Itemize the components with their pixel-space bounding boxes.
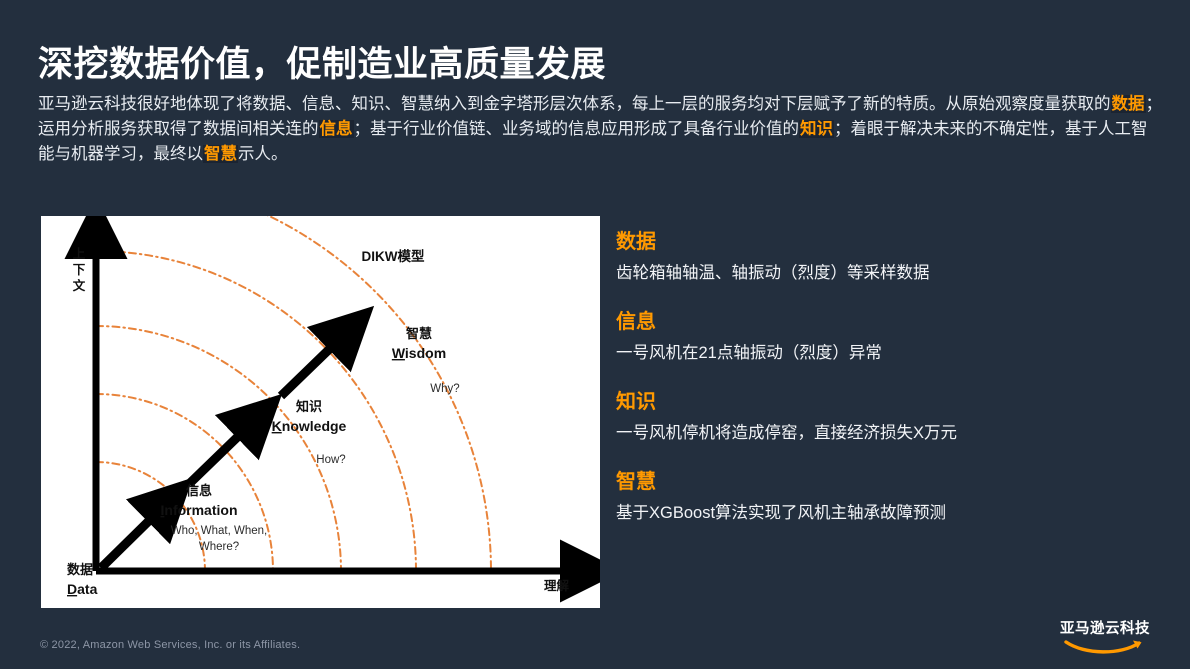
aws-china-logo-text: 亚马逊云科技	[1044, 621, 1166, 638]
subtitle-seg-3: ；基于行业价值链、业务域的信息应用形成了具备行业价值的	[354, 120, 800, 138]
level-data: 数据 Data	[67, 562, 98, 597]
info-column: 数据 齿轮箱轴轴温、轴振动（烈度）等采样数据 信息 一号风机在21点轴振动（烈度…	[616, 228, 1156, 548]
info-heading-data: 数据	[616, 228, 1156, 256]
y-axis-label-char-2: 下	[73, 263, 86, 277]
subtitle-highlight-knowledge: 知识	[799, 120, 834, 138]
level-wisdom-label-en: Wisdom	[392, 345, 446, 361]
level-knowledge-label-en: Knowledge	[272, 418, 347, 434]
info-block-knowledge: 知识 一号风机停机将造成停窑，直接经济损失X万元	[616, 388, 1156, 445]
level-wisdom-question: Why?	[430, 383, 459, 395]
level-information-label-en: Information	[161, 502, 238, 518]
level-wisdom-initial: W	[392, 345, 406, 361]
info-block-wisdom: 智慧 基于XGBoost算法实现了风机主轴承故障预测	[616, 468, 1156, 525]
level-information: 信息 Information Who, What, When, Where?	[161, 483, 268, 553]
level-wisdom-rest: isdom	[405, 345, 446, 361]
amazon-smile-icon	[1063, 639, 1147, 655]
dikw-diagram-panel: 上 下 文 理解 DIKW模型 数据 Data 信息 Information	[41, 216, 600, 608]
y-axis-label: 上 下 文	[73, 246, 86, 293]
footer-copyright: © 2022, Amazon Web Services, Inc. or its…	[40, 639, 300, 651]
subtitle-highlight-wisdom: 智慧	[203, 145, 238, 163]
info-heading-information: 信息	[616, 308, 1156, 336]
level-wisdom-label-cn: 智慧	[406, 326, 432, 341]
subtitle-seg-5: 示人。	[238, 145, 288, 163]
level-knowledge-rest: nowledge	[282, 418, 347, 434]
level-knowledge-label-cn: 知识	[296, 399, 322, 414]
level-information-label-cn: 信息	[186, 483, 212, 498]
level-information-rest: nformation	[164, 502, 237, 518]
level-knowledge-question: How?	[316, 454, 345, 466]
level-knowledge-initial: K	[272, 418, 282, 434]
level-data-initial: D	[67, 581, 77, 597]
info-block-information: 信息 一号风机在21点轴振动（烈度）异常	[616, 308, 1156, 365]
info-block-data: 数据 齿轮箱轴轴温、轴振动（烈度）等采样数据	[616, 228, 1156, 285]
info-body-information: 一号风机在21点轴振动（烈度）异常	[616, 341, 1156, 365]
subtitle-highlight-information: 信息	[319, 120, 354, 138]
level-data-label-en: Data	[67, 581, 98, 597]
slide-root: 深挖数据价值，促制造业高质量发展 亚马逊云科技很好地体现了将数据、信息、知识、智…	[0, 0, 1190, 669]
level-knowledge: 知识 Knowledge How?	[272, 399, 347, 466]
y-axis-label-char-1: 上	[73, 246, 86, 261]
arrow-knowledge-to-wisdom	[281, 334, 345, 396]
arrow-data-to-information	[101, 506, 164, 568]
info-heading-knowledge: 知识	[616, 388, 1156, 416]
diagram-title: DIKW模型	[362, 248, 425, 264]
info-body-data: 齿轮箱轴轴温、轴振动（烈度）等采样数据	[616, 261, 1156, 285]
level-information-question-line1: Who, What, When,	[171, 525, 268, 537]
page-title: 深挖数据价值，促制造业高质量发展	[38, 36, 606, 87]
level-data-rest: ata	[77, 581, 97, 597]
level-data-label-cn: 数据	[67, 562, 93, 577]
level-information-question-line2: Where?	[199, 541, 239, 553]
subtitle-highlight-data: 数据	[1111, 95, 1146, 113]
x-axis-label: 理解	[544, 578, 570, 593]
aws-china-logo: 亚马逊云科技	[1044, 621, 1166, 655]
subtitle-seg-1: 亚马逊云科技很好地体现了将数据、信息、知识、智慧纳入到金字塔形层次体系，每上一层…	[38, 95, 1111, 113]
page-subtitle: 亚马逊云科技很好地体现了将数据、信息、知识、智慧纳入到金字塔形层次体系，每上一层…	[38, 92, 1162, 167]
level-wisdom: 智慧 Wisdom Why?	[392, 326, 460, 395]
y-axis-label-char-3: 文	[73, 278, 86, 293]
info-heading-wisdom: 智慧	[616, 468, 1156, 496]
info-body-knowledge: 一号风机停机将造成停窑，直接经济损失X万元	[616, 421, 1156, 445]
arrow-information-to-knowledge	[189, 422, 253, 484]
info-body-wisdom: 基于XGBoost算法实现了风机主轴承故障预测	[616, 501, 1156, 525]
